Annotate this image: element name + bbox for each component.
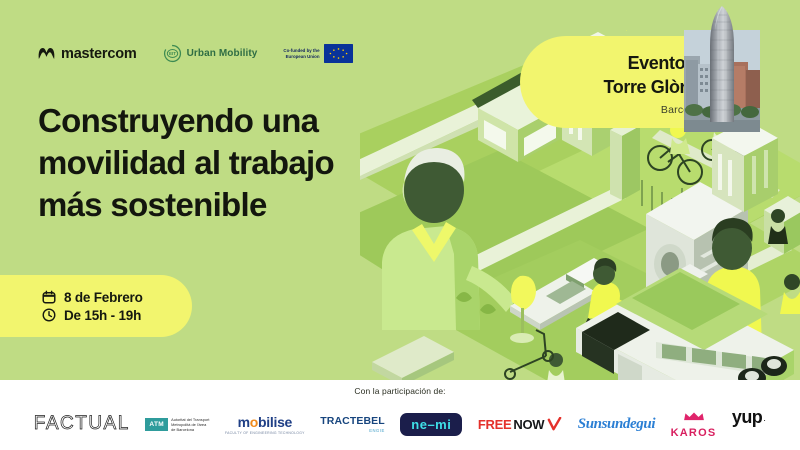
date-label: 8 de Febrero: [64, 290, 143, 305]
mobilise-tagline: FACULTY OF ENGINEERING TECHNOLOGY: [225, 431, 305, 435]
partner-logo-nemi: ne–mi: [400, 407, 462, 441]
svg-text:EIT: EIT: [169, 51, 176, 56]
atm-subtitle: Autoritat del Transport Metropolità de l…: [171, 417, 209, 432]
partner-logo-tractebel: TRACTEBEL ENGIE: [320, 407, 384, 441]
partner-logo-karos: KAROS: [671, 407, 717, 441]
time-line: De 15h - 19h: [42, 308, 192, 323]
time-label: De 15h - 19h: [64, 308, 141, 323]
partner-logo-sunsundegui: Sunsundegui: [578, 407, 655, 441]
partner-logo-yup: yup ·: [732, 407, 766, 441]
partner-logo-mobilise: mobilise FACULTY OF ENGINEERING TECHNOLO…: [225, 407, 305, 441]
top-logo-row: mastercom EIT Urban Mobility Co-funded b…: [38, 44, 353, 63]
headline-line-1: Construyendo una: [38, 100, 438, 142]
karos-label: KAROS: [671, 427, 717, 439]
logo-eit-label: Urban Mobility: [187, 48, 258, 59]
partner-logos-row: FACTUAL ATM Autoritat del Transport Metr…: [0, 404, 800, 444]
mobilise-label: mobilise: [225, 414, 305, 430]
calendar-icon: [42, 290, 56, 304]
eit-ring-icon: EIT: [163, 44, 182, 63]
logo-mastercom-label: mastercom: [61, 46, 137, 62]
tractebel-label: TRACTEBEL: [320, 415, 384, 427]
atm-badge: ATM: [145, 418, 168, 431]
eu-flag-icon: [324, 44, 353, 63]
logo-eit-urban-mobility: EIT Urban Mobility: [163, 44, 258, 63]
checkmark-icon: [547, 417, 562, 432]
yup-dot: ·: [763, 415, 766, 425]
partner-logo-factual: FACTUAL: [34, 407, 130, 441]
freenow-label-free: FREE: [478, 417, 511, 432]
mastercom-m-mark-icon: [38, 47, 55, 60]
partner-logo-freenow: FREE NOW: [478, 407, 562, 441]
logo-mastercom: mastercom: [38, 46, 137, 62]
partner-logo-atm: ATM Autoritat del Transport Metropolità …: [145, 407, 209, 441]
clock-icon: [42, 308, 56, 322]
freenow-label-now: NOW: [513, 417, 544, 432]
nemi-label: ne–mi: [400, 413, 462, 436]
crown-icon: [683, 412, 705, 421]
page-title: Construyendo una movilidad al trabajo má…: [38, 100, 438, 226]
tractebel-sub: ENGIE: [320, 428, 384, 433]
date-line: 8 de Febrero: [42, 290, 192, 305]
yup-label: yup: [732, 407, 762, 428]
date-time-badge: 8 de Febrero De 15h - 19h: [0, 275, 192, 337]
sunsundegui-label: Sunsundegui: [578, 416, 655, 433]
logo-eu-caption: Co-funded by the European Union: [283, 48, 319, 59]
headline-line-2: movilidad al trabajo: [38, 142, 438, 184]
headline-line-3: más sostenible: [38, 184, 438, 226]
footer-caption: Con la participación de:: [0, 386, 800, 396]
torre-glories-photo: [684, 0, 760, 132]
logo-eu-funding: Co-funded by the European Union: [283, 44, 352, 63]
event-banner: mastercom EIT Urban Mobility Co-funded b…: [0, 0, 800, 450]
factual-label: FACTUAL: [34, 413, 130, 435]
